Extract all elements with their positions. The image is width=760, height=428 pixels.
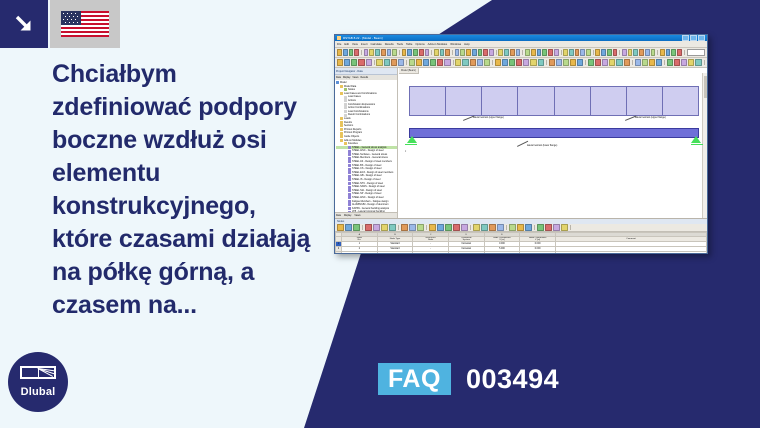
toolbar-icon-53[interactable]: [671, 49, 676, 56]
toolbar-icon-26[interactable]: [561, 224, 568, 231]
girder-segment: [591, 87, 627, 115]
toolbar-icon-24[interactable]: [483, 49, 488, 56]
toolbar-separator: [362, 225, 363, 230]
toolbar-icon-27[interactable]: [538, 59, 544, 66]
app-icon: [337, 36, 341, 40]
load-case-combo[interactable]: [687, 49, 706, 56]
toolbar-icon-25[interactable]: [523, 59, 529, 66]
viewport-tab-label[interactable]: Model [Beam]: [399, 68, 419, 74]
toolbar-separator: [704, 60, 705, 65]
toolbar-separator: [570, 225, 571, 230]
module-icon: [348, 207, 351, 210]
module-icon: [348, 178, 351, 181]
toolbar-icon-12[interactable]: [437, 224, 444, 231]
toolbar-icon-3[interactable]: [351, 59, 357, 66]
toolbar-icon-38[interactable]: [624, 59, 630, 66]
case-icon: [344, 110, 347, 113]
toolbar-separator: [406, 60, 407, 65]
structural-model: lateral restrain (upper flange) lateral …: [409, 86, 699, 138]
menu-bar[interactable]: FileEditViewInsertCalculateResultsToolsT…: [335, 41, 707, 48]
menu-item-calculate[interactable]: Calculate: [371, 43, 382, 46]
toolbar-icon-47[interactable]: [633, 49, 638, 56]
toolbar-icon-11[interactable]: [429, 224, 436, 231]
window-title: RSTAB 8.22 - [Model - Beam]: [343, 36, 682, 40]
toolbar-icon-7[interactable]: [389, 224, 396, 231]
toolbar-icon-16[interactable]: [434, 49, 439, 56]
toolbar-icon-33[interactable]: [588, 59, 594, 66]
toolbar-icon-43[interactable]: [667, 59, 673, 66]
toolbar-icon-10[interactable]: [409, 59, 415, 66]
toolbar-icon-5[interactable]: [364, 49, 369, 56]
toolbar-icon-45[interactable]: [681, 59, 687, 66]
faq-badge: FAQ: [378, 363, 451, 395]
toolbar-icon-22[interactable]: [525, 224, 532, 231]
toolbar-icon-5[interactable]: [366, 59, 372, 66]
menu-item-file[interactable]: File: [337, 43, 341, 46]
restraint-label-upper-left: lateral restrain (upper flange): [473, 116, 504, 119]
module-icon: [348, 193, 351, 196]
navigator-tab-results[interactable]: Results: [360, 77, 368, 79]
toolbar-separator: [522, 50, 523, 55]
toolbar-icon-25[interactable]: [553, 224, 560, 231]
navigator-footer-tab-display[interactable]: Display: [344, 215, 352, 217]
toolbar-icon-18[interactable]: [489, 224, 496, 231]
folder-icon: [340, 92, 343, 95]
toolbar-icon-6[interactable]: [369, 49, 374, 56]
module-icon: [348, 150, 351, 153]
toolbar-separator: [632, 60, 633, 65]
toolbar-icon-4[interactable]: [354, 49, 359, 56]
module-icon: [348, 171, 351, 174]
toolbar-icon-49[interactable]: [645, 49, 650, 56]
toolbar-icon-12[interactable]: [423, 59, 429, 66]
folder-icon: [340, 128, 343, 131]
toolbar-icon-9[interactable]: [387, 49, 392, 56]
toolbar-icon-29[interactable]: [516, 49, 521, 56]
toolbar-icon-29[interactable]: [556, 59, 562, 66]
workspace: Project Navigator - Data DataDisplayView…: [335, 68, 707, 218]
viewport-vertical-scrollbar[interactable]: [702, 73, 707, 218]
module-icon: [348, 146, 351, 149]
toolbar-icon-16[interactable]: [455, 59, 461, 66]
toolbar-separator: [657, 50, 658, 55]
toolbar-icon-13[interactable]: [430, 59, 436, 66]
folder-icon: [340, 124, 343, 127]
toolbar-separator: [585, 60, 586, 65]
toolbar-icon-30[interactable]: [563, 59, 569, 66]
nodal-support-left: [407, 136, 417, 143]
menu-item-windows[interactable]: Windows: [450, 43, 461, 46]
menu-item-options[interactable]: Options: [415, 43, 424, 46]
menu-item-results[interactable]: Results: [385, 43, 394, 46]
toolbar-icon-4[interactable]: [358, 59, 364, 66]
grid-cell[interactable]: [520, 252, 556, 255]
toolbar-icon-43[interactable]: [607, 49, 612, 56]
toolbar-separator: [453, 60, 454, 65]
girder-segment: [627, 87, 663, 115]
toolbar-separator: [398, 225, 399, 230]
toolbar-icon-19[interactable]: [455, 49, 460, 56]
toolbar-icon-22[interactable]: [472, 49, 477, 56]
axis-label-z: z: [405, 150, 406, 153]
toolbar-icon-28[interactable]: [510, 49, 515, 56]
toolbar-icon-44[interactable]: [613, 49, 618, 56]
girder-segment: [518, 87, 554, 115]
toolbar-icon-44[interactable]: [674, 59, 680, 66]
toolbar-icon-7[interactable]: [375, 49, 380, 56]
toolbar-icon-8[interactable]: [401, 224, 408, 231]
girder-segment: [410, 87, 446, 115]
navigator-tab-display[interactable]: Display: [343, 77, 351, 79]
toolbar-icon-16[interactable]: [473, 224, 480, 231]
toolbar-icon-21[interactable]: [495, 59, 501, 66]
toolbar-icon-35[interactable]: [602, 59, 608, 66]
toolbar-icon-36[interactable]: [609, 59, 615, 66]
module-icon: [348, 182, 351, 185]
module-icon: [348, 186, 351, 189]
toolbar-icon-40[interactable]: [586, 49, 591, 56]
toolbar-icon-37[interactable]: [569, 49, 574, 56]
toolbar-icon-31[interactable]: [570, 59, 576, 66]
folder-icon: [340, 135, 343, 138]
toolbar-icon-42[interactable]: [601, 49, 606, 56]
navigator-footer-tab-views[interactable]: Views: [354, 215, 360, 217]
toolbar-icon-21[interactable]: [466, 49, 471, 56]
navigator-footer-tabs[interactable]: DataDisplayViews: [335, 212, 397, 218]
toolbar-icon-26[interactable]: [498, 49, 503, 56]
toolbar-icon-14[interactable]: [437, 59, 443, 66]
module-icon: [348, 160, 351, 163]
folder-icon: [340, 132, 343, 135]
toolbar-icon-32[interactable]: [577, 59, 583, 66]
toolbar-separator: [619, 50, 620, 55]
toolbar-separator: [506, 225, 507, 230]
toolbar-icon-10[interactable]: [417, 224, 424, 231]
toolbar-separator: [534, 225, 535, 230]
rstab-application-window: RSTAB 8.22 - [Model - Beam] FileEditView…: [334, 34, 708, 254]
grid-cell[interactable]: [413, 252, 449, 255]
toolbar-icon-40[interactable]: [642, 59, 648, 66]
member-beam: [409, 128, 699, 138]
toolbar-icon-48[interactable]: [639, 49, 644, 56]
restraint-label-lower: lateral restrain (lower flange): [527, 144, 557, 147]
navigator-footer-tab-data[interactable]: Data: [336, 215, 341, 217]
model-icon: [336, 81, 339, 84]
toolbar-icon-32[interactable]: [537, 49, 542, 56]
module-icon: [348, 168, 351, 171]
toolbar-separator: [684, 50, 685, 55]
toolbar-icon-39[interactable]: [580, 49, 585, 56]
toolbar-icon-22[interactable]: [502, 59, 508, 66]
toolbar-icon-54[interactable]: [677, 49, 682, 56]
girder-segment: [446, 87, 482, 115]
page-title: Chciałbym zdefiniować podpory boczne wzd…: [52, 58, 320, 322]
close-button[interactable]: [698, 35, 705, 41]
maximize-button[interactable]: [690, 35, 697, 41]
nodal-support-right: [691, 136, 701, 143]
toolbar-icon-45[interactable]: [622, 49, 627, 56]
toolbar-icon-11[interactable]: [416, 59, 422, 66]
module-icon: [348, 196, 351, 199]
grid-cell[interactable]: [484, 252, 520, 255]
dlubal-frame-icon: [20, 366, 56, 384]
navigator-tab-views[interactable]: Views: [352, 77, 358, 79]
toolbar-separator: [399, 50, 400, 55]
toolbar-icon-50[interactable]: [651, 49, 656, 56]
window-controls[interactable]: [682, 35, 705, 41]
navigator-tab-data[interactable]: Data: [336, 77, 341, 79]
toolbar-icon-6[interactable]: [376, 59, 382, 66]
toolbar-icon-12[interactable]: [407, 49, 412, 56]
toolbar-icon-8[interactable]: [381, 49, 386, 56]
toolbar-icon-6[interactable]: [381, 224, 388, 231]
toolbar-icon-19[interactable]: [497, 224, 504, 231]
toolbar-icon-1[interactable]: [337, 224, 344, 231]
toolbar-separator: [492, 60, 493, 65]
language-flag-container: [50, 0, 120, 48]
menu-item-tools[interactable]: Tools: [397, 43, 403, 46]
folder-icon: [344, 142, 347, 145]
menu-item-help[interactable]: Help: [464, 43, 470, 46]
dlubal-wordmark: Dlubal: [21, 386, 56, 398]
menu-item-view[interactable]: View: [352, 43, 358, 46]
toolbar-icon-13[interactable]: [413, 49, 418, 56]
module-icon: [348, 157, 351, 160]
toolbar-separator: [664, 60, 665, 65]
toolbar-icon-1[interactable]: [337, 49, 342, 56]
minimize-button[interactable]: [682, 35, 689, 41]
toolbar-icon-15[interactable]: [444, 59, 450, 66]
case-icon: [344, 96, 347, 99]
menu-item-edit[interactable]: Edit: [344, 43, 349, 46]
toolbar-icon-46[interactable]: [688, 59, 694, 66]
scrollbar-thumb[interactable]: [704, 76, 707, 98]
toolbar-icon-20[interactable]: [460, 49, 465, 56]
data-grid[interactable]: ABCDENodeNo.Node TypeReferenceNodeCoordi…: [335, 232, 707, 254]
toolbar-icon-9[interactable]: [398, 59, 404, 66]
toolbar-icon-23[interactable]: [537, 224, 544, 231]
toolbar-icon-21[interactable]: [517, 224, 524, 231]
case-icon: [344, 103, 347, 106]
folder-icon: [340, 85, 343, 88]
main-toolbar[interactable]: [335, 48, 707, 58]
toolbar-icon-41[interactable]: [649, 59, 655, 66]
toolbar-icon-46[interactable]: [628, 49, 633, 56]
toolbar-icon-51[interactable]: [660, 49, 665, 56]
toolbar-icon-5[interactable]: [373, 224, 380, 231]
module-icon: [348, 164, 351, 167]
toolbar-icon-24[interactable]: [516, 59, 522, 66]
table-row[interactable]: [336, 252, 707, 255]
toolbar-separator: [546, 60, 547, 65]
toolbar-icon-23[interactable]: [478, 49, 483, 56]
toolbar-separator: [374, 60, 375, 65]
toolbar-icon-4[interactable]: [365, 224, 372, 231]
toolbar-icon-2[interactable]: [344, 59, 350, 66]
toolbar-icon-9[interactable]: [409, 224, 416, 231]
toolbar-icon-47[interactable]: [695, 59, 701, 66]
girder-segment: [663, 87, 698, 115]
toolbar-icon-37[interactable]: [616, 59, 622, 66]
toolbar-icon-18[interactable]: [445, 49, 450, 56]
grid-cell[interactable]: [377, 252, 413, 255]
toolbar-icon-3[interactable]: [353, 224, 360, 231]
toolbar-icon-24[interactable]: [545, 224, 552, 231]
secondary-toolbar[interactable]: [335, 58, 707, 68]
toolbar-icon-15[interactable]: [425, 49, 430, 56]
navigator-tree[interactable]: ModelModel DataNodesLoad Cases and Combi…: [335, 80, 397, 212]
faq-number: 003494: [466, 362, 559, 396]
table-toolbar[interactable]: [335, 224, 707, 232]
toolbar-icon-36[interactable]: [563, 49, 568, 56]
menu-item-insert[interactable]: Insert: [361, 43, 368, 46]
toolbar-icon-52[interactable]: [666, 49, 671, 56]
toolbar-icon-7[interactable]: [384, 59, 390, 66]
toolbar-icon-31[interactable]: [531, 49, 536, 56]
folder-icon: [340, 139, 343, 142]
toolbar-icon-26[interactable]: [530, 59, 536, 66]
grid-cell[interactable]: [342, 252, 378, 255]
toolbar-separator: [561, 50, 562, 55]
toolbar-icon-23[interactable]: [509, 59, 515, 66]
menu-item-table[interactable]: Table: [406, 43, 412, 46]
toolbar-icon-19[interactable]: [477, 59, 483, 66]
toolbar-icon-13[interactable]: [445, 224, 452, 231]
project-navigator-panel: Project Navigator - Data DataDisplayView…: [335, 68, 398, 218]
toolbar-separator: [361, 50, 362, 55]
toolbar-icon-1[interactable]: [337, 59, 343, 66]
arrow-down-right-icon: [0, 0, 48, 48]
toolbar-icon-35[interactable]: [554, 49, 559, 56]
toolbar-icon-18[interactable]: [470, 59, 476, 66]
toolbar-icon-20[interactable]: [509, 224, 516, 231]
navigator-header: Project Navigator - Data: [335, 68, 397, 75]
toolbar-icon-17[interactable]: [440, 49, 445, 56]
toolbar-icon-38[interactable]: [575, 49, 580, 56]
toolbar-icon-14[interactable]: [453, 224, 460, 231]
slide-canvas: Chciałbym zdefiniować podpory boczne wzd…: [0, 0, 760, 428]
toolbar-icon-2[interactable]: [345, 224, 352, 231]
tree-item-label: Result Combinations: [348, 113, 370, 117]
toolbar-icon-30[interactable]: [525, 49, 530, 56]
support-base-left: [405, 144, 417, 145]
folder-icon: [340, 117, 343, 120]
toolbar-icon-14[interactable]: [419, 49, 424, 56]
support-base-right: [691, 144, 703, 145]
menu-item-add-on-modules[interactable]: Add-on Modules: [428, 43, 448, 46]
toolbar-icon-10[interactable]: [392, 49, 397, 56]
toolbar-icon-8[interactable]: [391, 59, 397, 66]
toolbar-icon-34[interactable]: [595, 59, 601, 66]
toolbar-icon-42[interactable]: [656, 59, 662, 66]
case-icon: [344, 99, 347, 102]
grid-cell[interactable]: [556, 252, 707, 255]
toolbar-separator: [470, 225, 471, 230]
upper-girder-grid: [409, 86, 699, 116]
folder-icon: [340, 121, 343, 124]
toolbar-icon-15[interactable]: [461, 224, 468, 231]
toolbar-icon-39[interactable]: [635, 59, 641, 66]
toolbar-icon-27[interactable]: [504, 49, 509, 56]
toolbar-separator: [496, 50, 497, 55]
module-icon: [348, 175, 351, 178]
toolbar-separator: [431, 50, 432, 55]
toolbar-icon-2[interactable]: [343, 49, 348, 56]
girder-segment: [482, 87, 518, 115]
toolbar-icon-34[interactable]: [548, 49, 553, 56]
restraint-label-upper-right: lateral restrain (upper flange): [635, 116, 666, 119]
module-icon: [348, 189, 351, 192]
toolbar-icon-25[interactable]: [489, 49, 494, 56]
toolbar-icon-33[interactable]: [542, 49, 547, 56]
toolbar-icon-17[interactable]: [481, 224, 488, 231]
toolbar-icon-28[interactable]: [549, 59, 555, 66]
girder-segment: [555, 87, 591, 115]
table-panel: Nodes ABCDENodeNo.Node TypeReferenceNode…: [335, 218, 707, 254]
toolbar-separator: [426, 225, 427, 230]
dlubal-logo: Dlubal: [8, 352, 68, 412]
grid-cell[interactable]: [448, 252, 484, 255]
module-icon: [348, 153, 351, 156]
toolbar-icon-17[interactable]: [462, 59, 468, 66]
model-viewport[interactable]: Model [Beam] lateral restrain (upper fla…: [398, 68, 707, 218]
toolbar-icon-3[interactable]: [349, 49, 354, 56]
toolbar-icon-20[interactable]: [484, 59, 490, 66]
toolbar-separator: [452, 50, 453, 55]
module-icon: [348, 200, 351, 203]
toolbar-separator: [593, 50, 594, 55]
toolbar-icon-41[interactable]: [595, 49, 600, 56]
us-flag-icon: [61, 11, 109, 37]
toolbar-icon-11[interactable]: [402, 49, 407, 56]
